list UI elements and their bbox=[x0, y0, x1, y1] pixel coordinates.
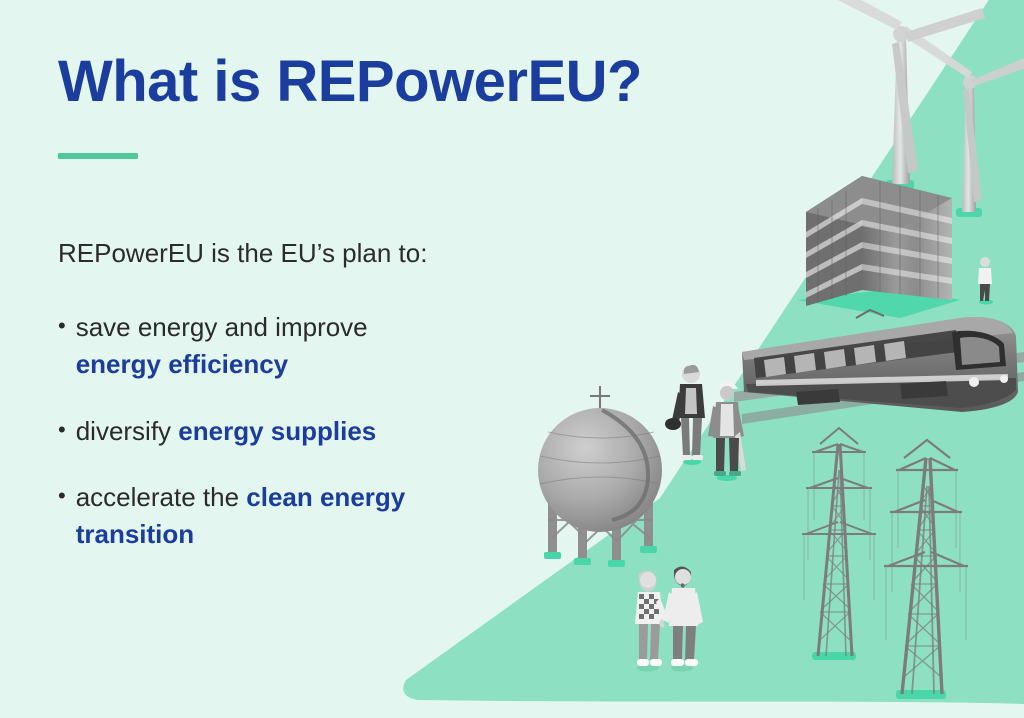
list-item: • diversify energy supplies bbox=[58, 413, 528, 450]
text-column: What is REPowerEU? REPowerEU is the EU’s… bbox=[58, 52, 528, 583]
list-item-text: diversify energy supplies bbox=[76, 413, 456, 450]
intro-text: REPowerEU is the EU’s plan to: bbox=[58, 237, 528, 271]
list-item-text: accelerate the clean energy transition bbox=[76, 479, 456, 553]
list-item-highlight: energy supplies bbox=[178, 416, 376, 446]
list-item-text: save energy and improve energy efficienc… bbox=[76, 309, 456, 383]
page-title: What is REPowerEU? bbox=[58, 52, 528, 113]
repowereu-slide: What is REPowerEU? REPowerEU is the EU’s… bbox=[0, 0, 1024, 718]
accent-rule bbox=[58, 153, 138, 159]
bullet-marker-icon: • bbox=[58, 309, 66, 343]
list-item-highlight: energy efficiency bbox=[76, 349, 288, 379]
list-item-lead: save energy and improve bbox=[76, 312, 368, 342]
list-item-lead: accelerate the bbox=[76, 482, 247, 512]
list-item-lead: diversify bbox=[76, 416, 179, 446]
bullet-marker-icon: • bbox=[58, 479, 66, 513]
bullet-marker-icon: • bbox=[58, 413, 66, 447]
list-item: • save energy and improve energy efficie… bbox=[58, 309, 528, 383]
list-item: • accelerate the clean energy transition bbox=[58, 479, 528, 553]
bullet-list: • save energy and improve energy efficie… bbox=[58, 309, 528, 554]
